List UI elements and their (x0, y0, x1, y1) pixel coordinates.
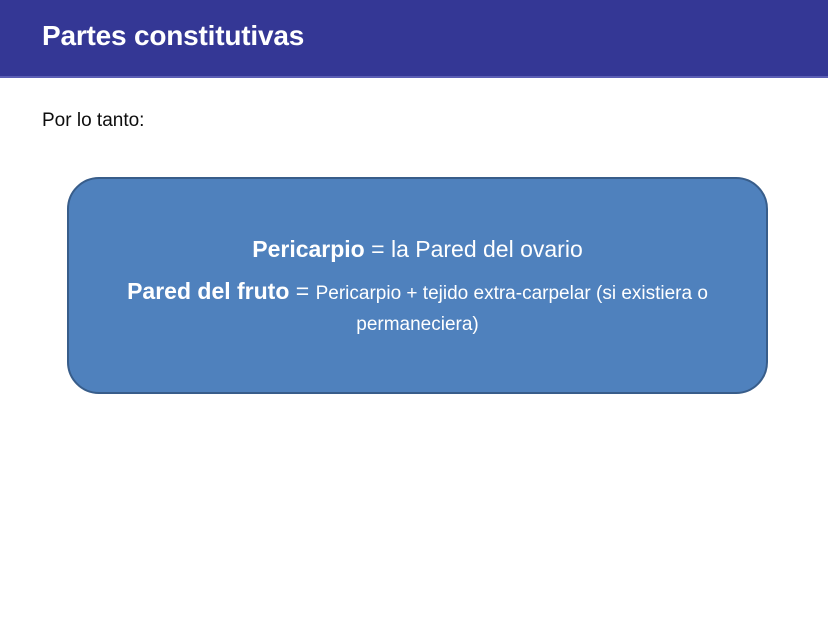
definition-line-pericarpio: Pericarpio = la Pared del ovario (252, 234, 583, 264)
term-pared-del-fruto: Pared del fruto (127, 278, 289, 304)
definition-pericarpio: la Pared del ovario (391, 236, 583, 262)
equals-sign-1: = (365, 236, 391, 262)
slide-title-bar: Partes constitutivas (0, 0, 828, 78)
definition-line-pared-del-fruto: Pared del fruto = Pericarpio + tejido ex… (83, 276, 752, 337)
term-pericarpio: Pericarpio (252, 236, 365, 262)
slide-root: Partes constitutivas Por lo tanto: Peric… (0, 0, 828, 621)
definition-pared-del-fruto: Pericarpio + tejido extra-carpelar (si e… (316, 283, 708, 334)
equals-sign-2: = (289, 278, 315, 304)
page-title: Partes constitutivas (42, 20, 304, 52)
intro-text: Por lo tanto: (42, 110, 144, 132)
title-bar-underline (0, 76, 828, 78)
definition-callout-box: Pericarpio = la Pared del ovario Pared d… (67, 177, 768, 394)
